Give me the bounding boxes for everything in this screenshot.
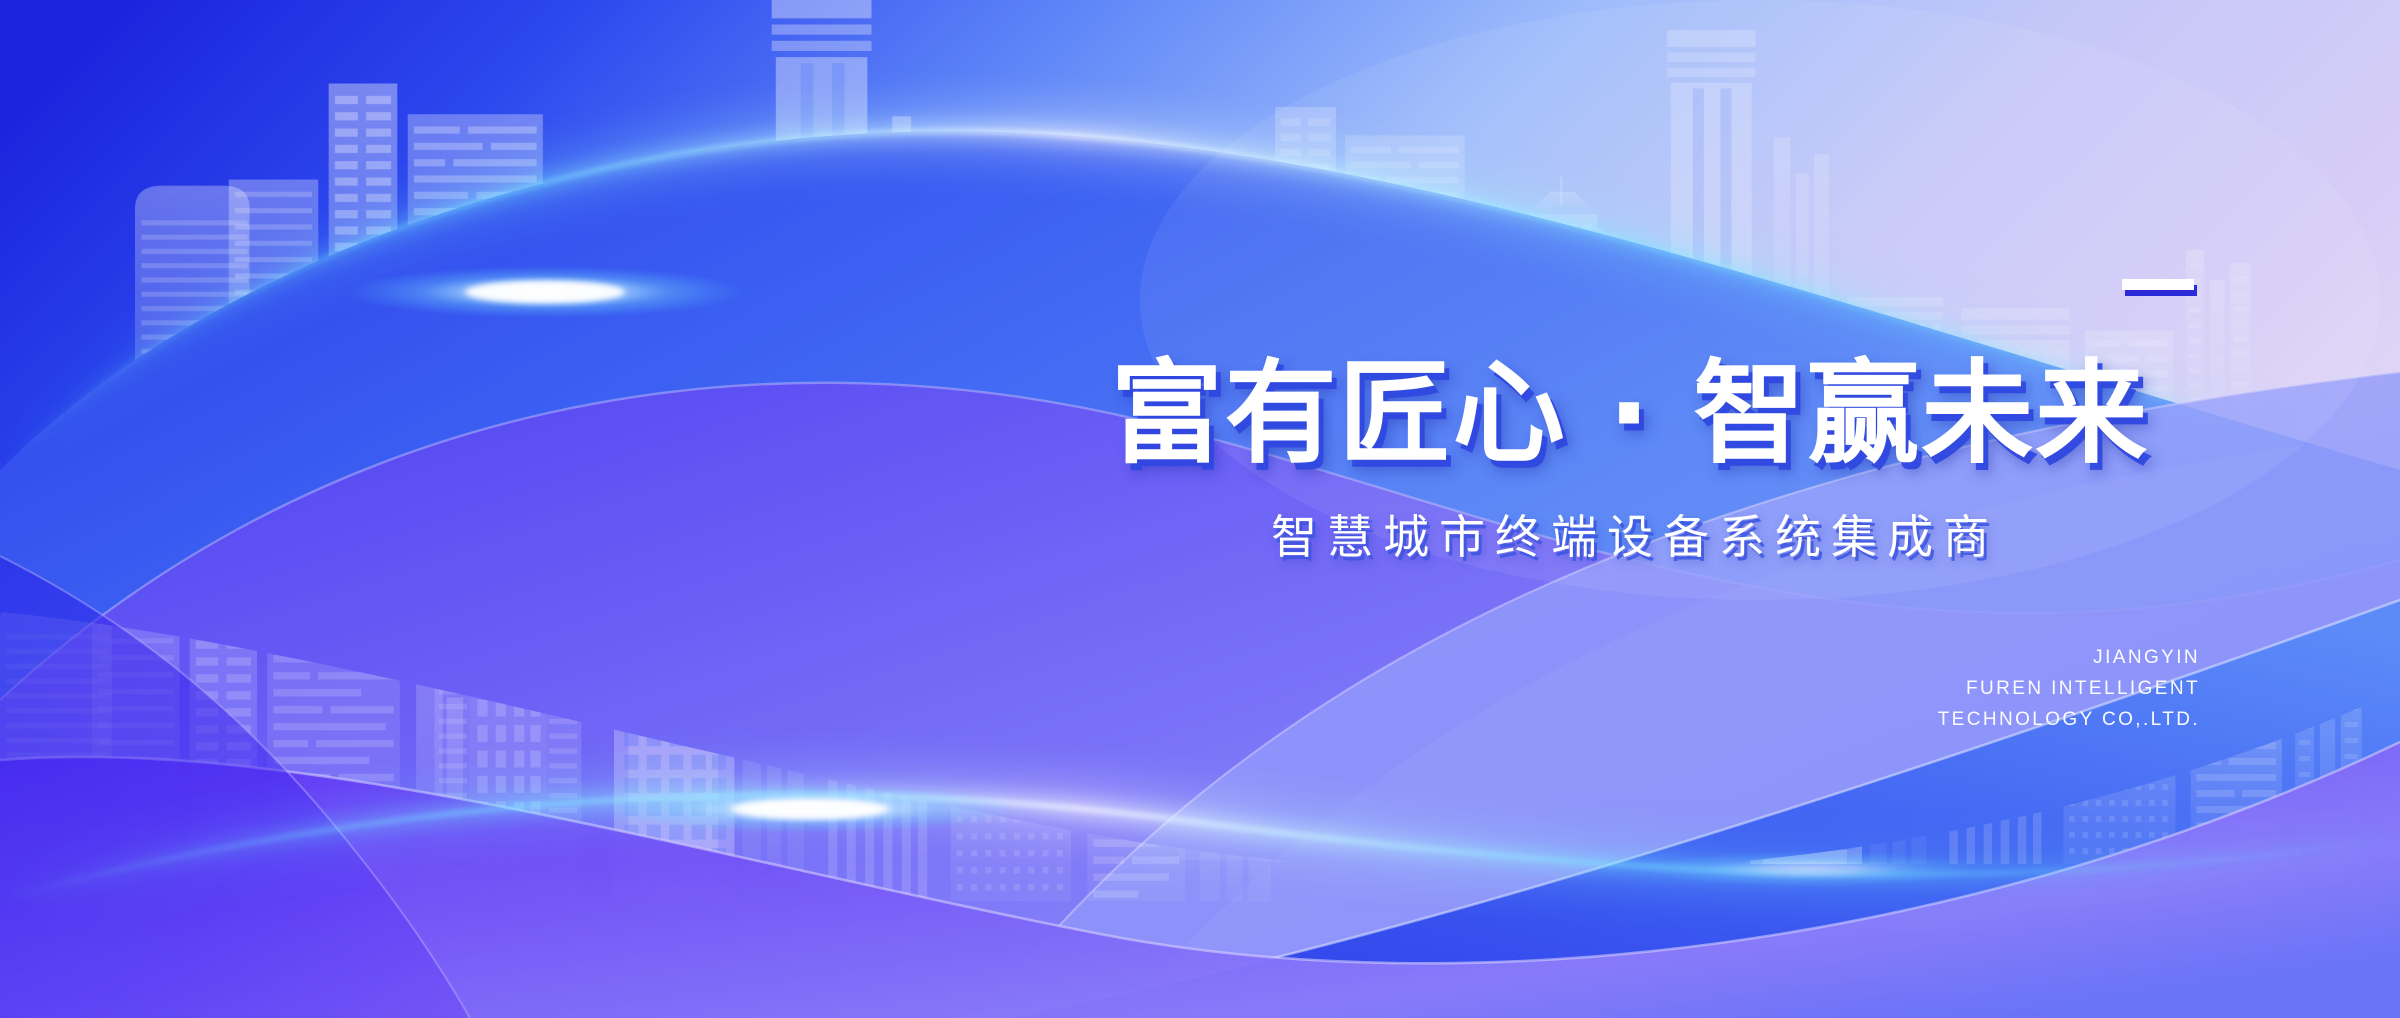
company-name-line-2: FUREN INTELLIGENT — [1700, 674, 2200, 705]
banner-main-title: 富有匠心 · 智赢未来 — [1060, 358, 2200, 470]
background-artwork — [0, 0, 2400, 1018]
banner-subtitle: 智慧城市终端设备系统集成商 — [1060, 512, 2200, 563]
company-name-line-1: JIANGYIN — [1700, 643, 2200, 674]
accent-dash-mark — [2122, 279, 2194, 290]
company-name-line-3: TECHNOLOGY CO,.LTD. — [1700, 705, 2200, 736]
company-name-block: JIANGYIN FUREN INTELLIGENT TECHNOLOGY CO… — [1700, 643, 2200, 735]
banner-canvas: 富有匠心 · 智赢未来 智慧城市终端设备系统集成商 JIANGYIN FUREN… — [0, 0, 2400, 1018]
